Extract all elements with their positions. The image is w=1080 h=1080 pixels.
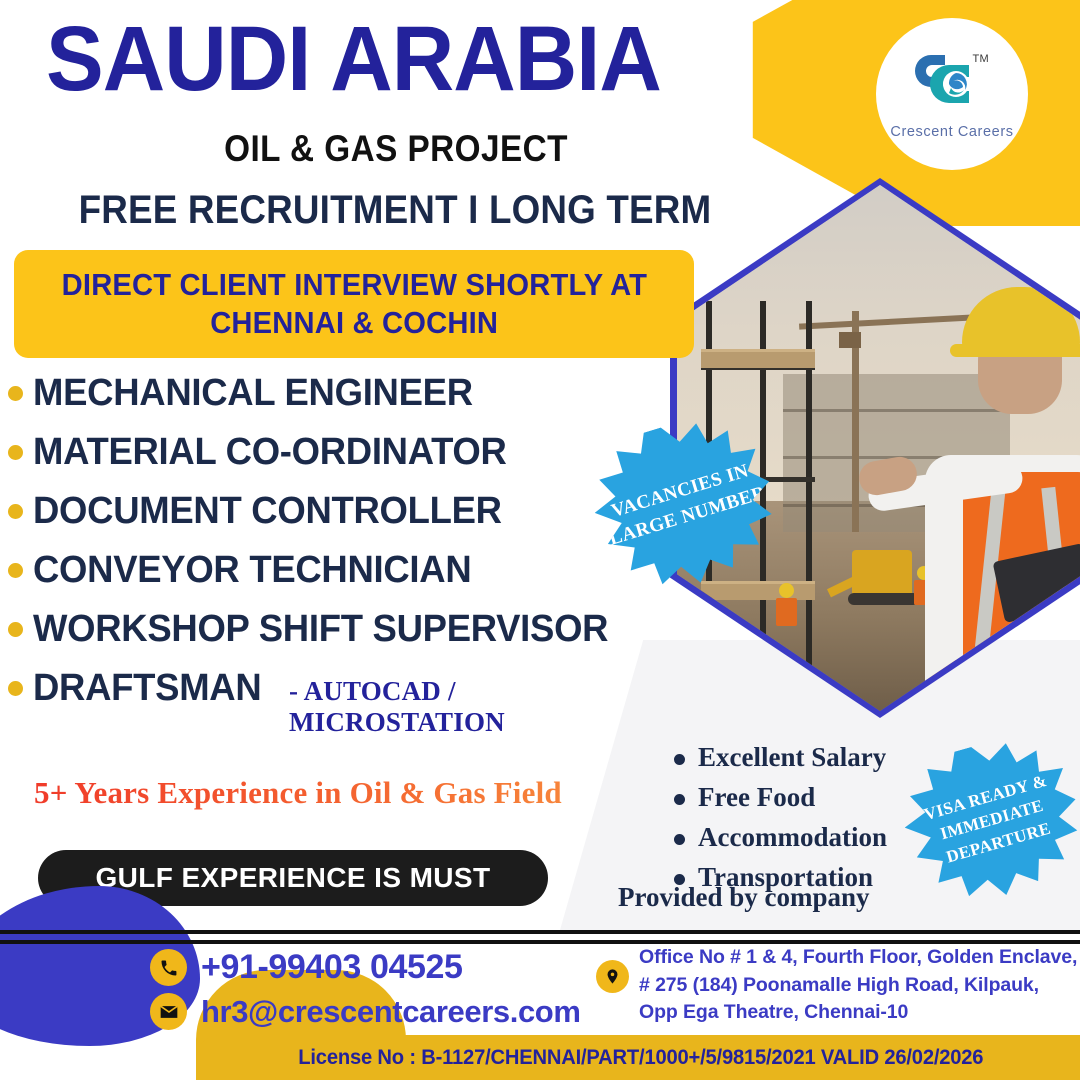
job-title: CONVEYOR TECHNICIAN [33,549,471,592]
address-block: Office No # 1 & 4, Fourth Floor, Golden … [596,944,1077,1027]
foreground-worker [864,269,1080,711]
trademark-symbol: TM [973,53,989,65]
divider-line [0,930,1080,934]
job-title-suffix: - AUTOCAD / MICROSTATION [289,676,658,738]
bullet-icon [8,563,23,578]
worker-figure [774,583,800,627]
address-line: Opp Ega Theatre, Chennai-10 [639,999,1077,1027]
hero-photo-hexagon [670,178,1080,718]
address-lines: Office No # 1 & 4, Fourth Floor, Golden … [639,944,1077,1027]
subtitle-recruitment: FREE RECRUITMENT I LONG TERM [68,188,721,233]
company-logo: TM Crescent Careers [876,18,1028,170]
benefits-note: Provided by company [618,882,870,913]
page-title-country: SAUDI ARABIA [46,16,704,103]
experience-requirement: 5+ Years Experience in Oil & Gas Field [34,775,562,811]
interview-banner-line1: DIRECT CLIENT INTERVIEW SHORTLY AT [61,266,646,304]
email-address[interactable]: hr3@crescentcareers.com [201,994,580,1030]
bullet-icon [8,386,23,401]
interview-banner: DIRECT CLIENT INTERVIEW SHORTLY AT CHENN… [14,250,694,358]
logo-company-name: Crescent Careers [890,124,1013,140]
hard-hat [962,287,1080,353]
email-row[interactable]: hr3@crescentcareers.com [150,993,580,1030]
recruitment-poster: TM Crescent Careers SAUDI ARABIA OIL & G… [0,0,1080,1080]
job-title: WORKSHOP SHIFT SUPERVISOR [33,608,608,651]
list-item: DOCUMENT CONTROLLER [8,490,658,533]
phone-row[interactable]: +91-99403 04525 [150,948,580,987]
job-title: MATERIAL CO-ORDINATOR [33,431,507,474]
bullet-icon [8,504,23,519]
phone-number[interactable]: +91-99403 04525 [201,948,463,987]
phone-icon [150,949,187,986]
license-text: License No : B-1127/CHENNAI/PART/1000+/5… [298,1046,983,1070]
list-item: WORKSHOP SHIFT SUPERVISOR [8,608,658,651]
job-title: MECHANICAL ENGINEER [33,372,473,415]
address-line: # 275 (184) Poonamalle High Road, Kilpau… [639,972,1077,1000]
interview-banner-line2: CHENNAI & COCHIN [210,304,498,342]
license-bar: License No : B-1127/CHENNAI/PART/1000+/5… [196,1035,1080,1080]
construction-site-photo [677,185,1080,711]
job-list: MECHANICAL ENGINEER MATERIAL CO-ORDINATO… [8,372,658,754]
double-c-logo-icon: TM [909,49,995,119]
list-item: Excellent Salary [668,742,968,773]
bullet-icon [8,681,23,696]
bullet-icon [8,445,23,460]
job-title: DRAFTSMAN [33,667,261,710]
list-item: DRAFTSMAN - AUTOCAD / MICROSTATION [8,667,658,738]
list-item: MATERIAL CO-ORDINATOR [8,431,658,474]
crane-cab [839,332,861,348]
list-item: MECHANICAL ENGINEER [8,372,658,415]
subtitle-project: OIL & GAS PROJECT [81,128,711,170]
address-line: Office No # 1 & 4, Fourth Floor, Golden … [639,944,1077,972]
map-pin-icon [596,960,629,993]
contact-block: +91-99403 04525 hr3@crescentcareers.com [150,948,580,1036]
bullet-icon [8,622,23,637]
gulf-experience-label: GULF EXPERIENCE IS MUST [95,862,490,894]
envelope-icon [150,993,187,1030]
list-item: CONVEYOR TECHNICIAN [8,549,658,592]
job-title: DOCUMENT CONTROLLER [33,490,502,533]
